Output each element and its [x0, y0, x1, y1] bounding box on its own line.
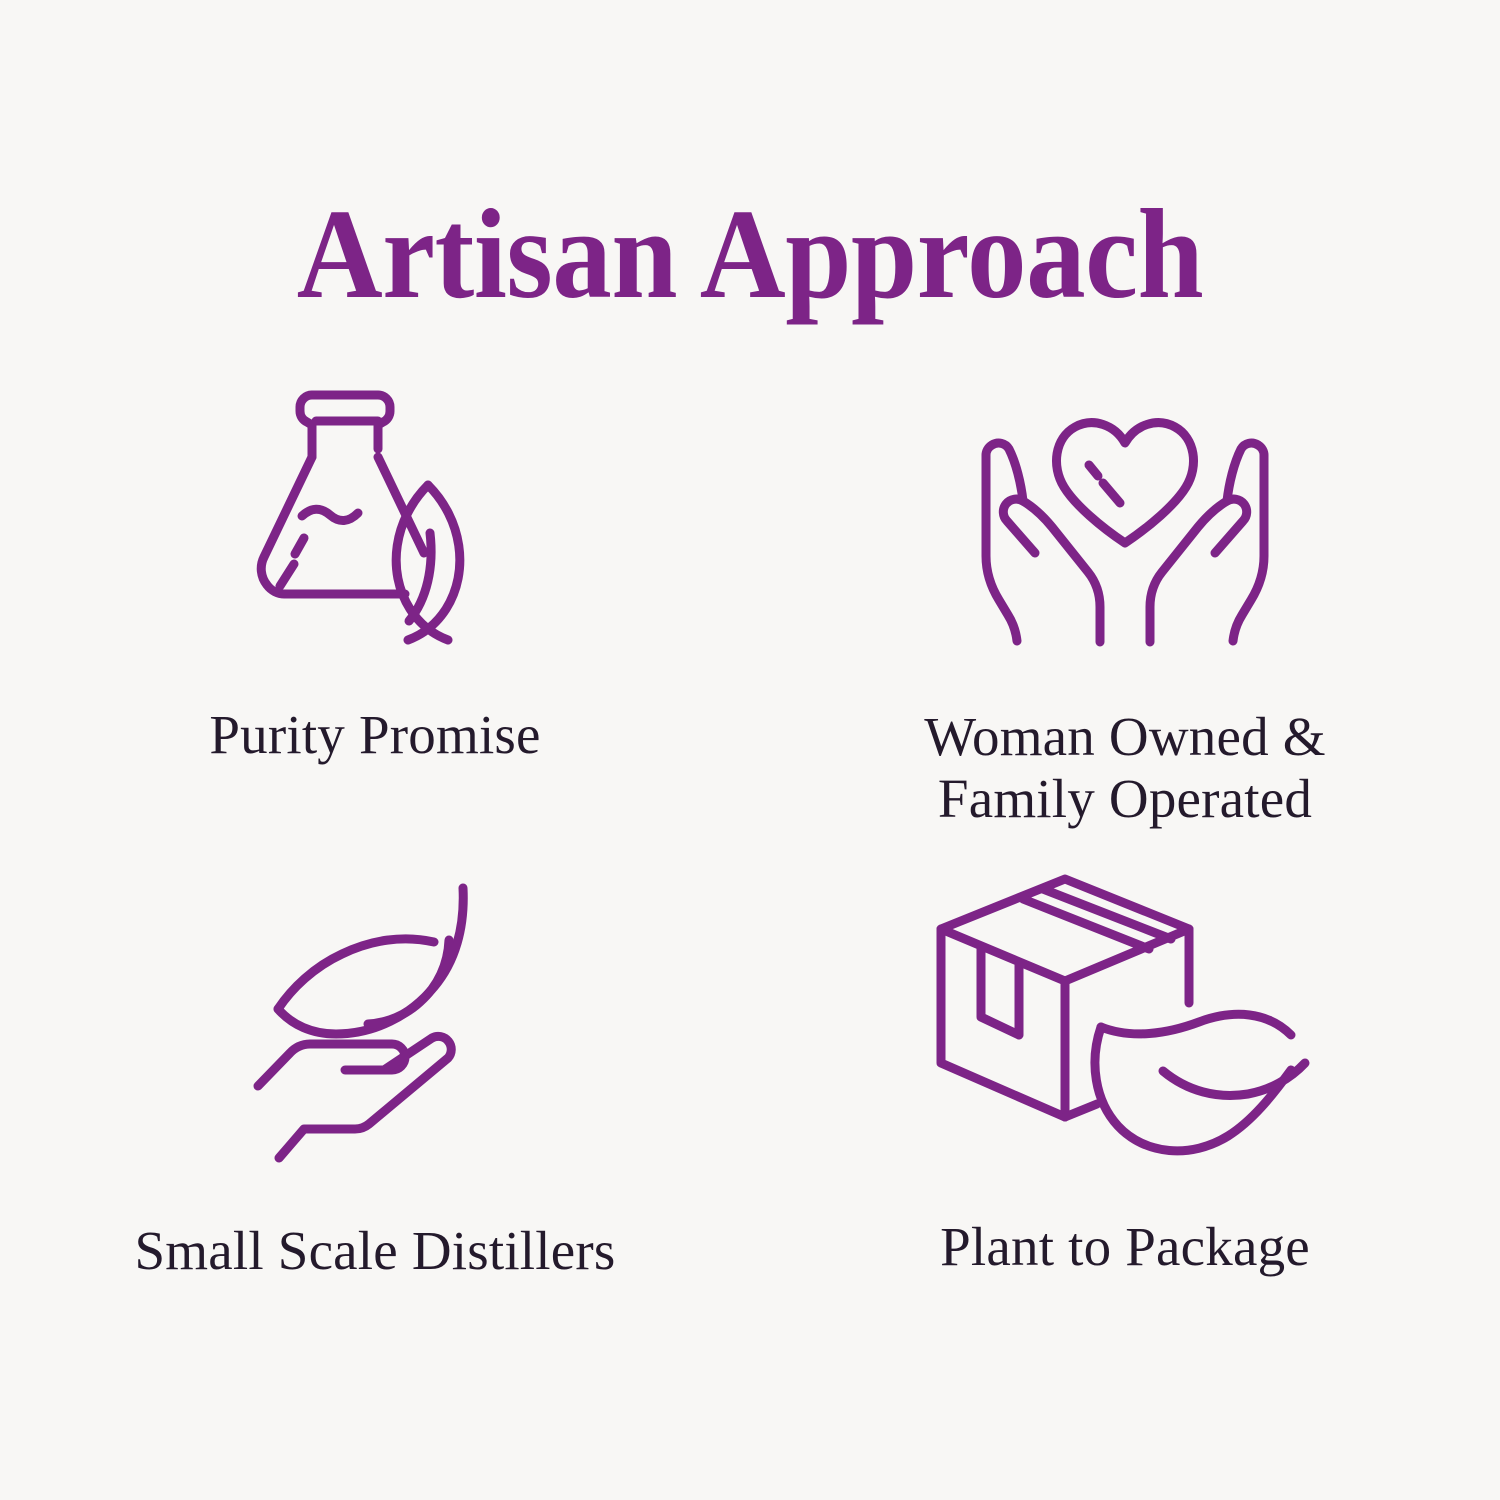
feature-grid: Purity Promise	[0, 340, 1500, 1400]
feature-item-small-scale-distillers: Small Scale Distillers	[0, 840, 750, 1340]
flask-with-leaf-icon	[250, 340, 500, 676]
feature-label-woman-owned: Woman Owned & Family Operated	[924, 706, 1325, 829]
feature-item-purity-promise: Purity Promise	[0, 340, 750, 840]
artisan-approach-infographic: Artisan Approach	[0, 0, 1500, 1500]
page-title: Artisan Approach	[53, 190, 1448, 318]
feature-label-purity-promise: Purity Promise	[209, 704, 540, 766]
feature-label-small-scale-distillers: Small Scale Distillers	[134, 1220, 615, 1282]
feature-item-plant-to-package: Plant to Package	[750, 840, 1500, 1340]
feature-item-woman-owned: Woman Owned & Family Operated	[750, 340, 1500, 840]
shipping-box-with-leaf-icon	[925, 840, 1325, 1156]
feature-label-plant-to-package: Plant to Package	[940, 1216, 1310, 1278]
hands-holding-heart-icon	[965, 340, 1285, 684]
leaf-above-open-hand-icon	[250, 840, 500, 1160]
